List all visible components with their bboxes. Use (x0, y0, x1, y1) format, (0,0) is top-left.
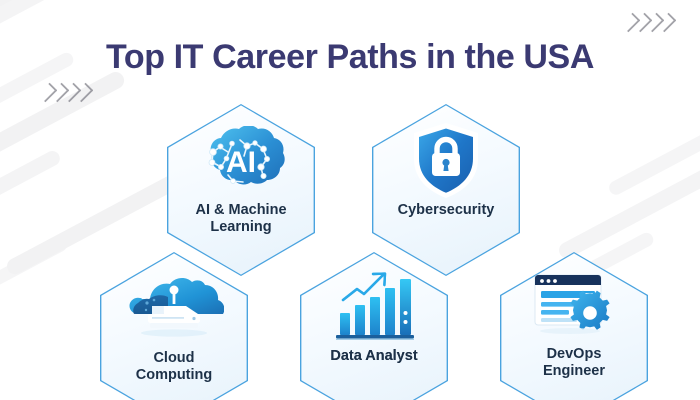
ai-brain-icon: AI (195, 124, 287, 198)
chevrons-right-icon-bottom-left (42, 84, 89, 101)
card-label-cloud-computing: Cloud Computing (130, 350, 219, 384)
card-label-cybersecurity: Cybersecurity (392, 202, 501, 219)
background-stripe (0, 236, 69, 304)
card-cybersecurity[interactable]: Cybersecurity (372, 104, 520, 276)
bar-chart-growth-icon-render (331, 270, 417, 344)
card-label-data-analyst-render: Data Analyst (324, 348, 423, 365)
card-label-devops-engineer: DevOps Engineer (537, 346, 611, 380)
card-ai-machine-learning[interactable]: AI AI & Machine Learning (167, 104, 315, 276)
card-cloud-computing[interactable]: Cloud Computing (100, 252, 248, 400)
ai-icon-label: AI (226, 146, 256, 179)
infographic-canvas: Top IT Career Paths in the USA (0, 0, 700, 400)
background-stripe (556, 162, 700, 261)
cloud-server-icon (124, 272, 224, 346)
background-stripe (607, 119, 700, 197)
chevrons-right-icon-top-right (625, 14, 672, 31)
page-title: Top IT Career Paths in the USA (0, 38, 700, 77)
shield-lock-icon (410, 124, 482, 198)
background-stripe (0, 148, 62, 246)
card-devops-engineer[interactable]: DevOps Engineer (500, 252, 648, 400)
browser-gear-icon (528, 268, 620, 342)
card-label-ai-machine-learning: AI & Machine Learning (189, 202, 292, 236)
card-data-analyst[interactable]: Data Analyst (300, 252, 448, 400)
